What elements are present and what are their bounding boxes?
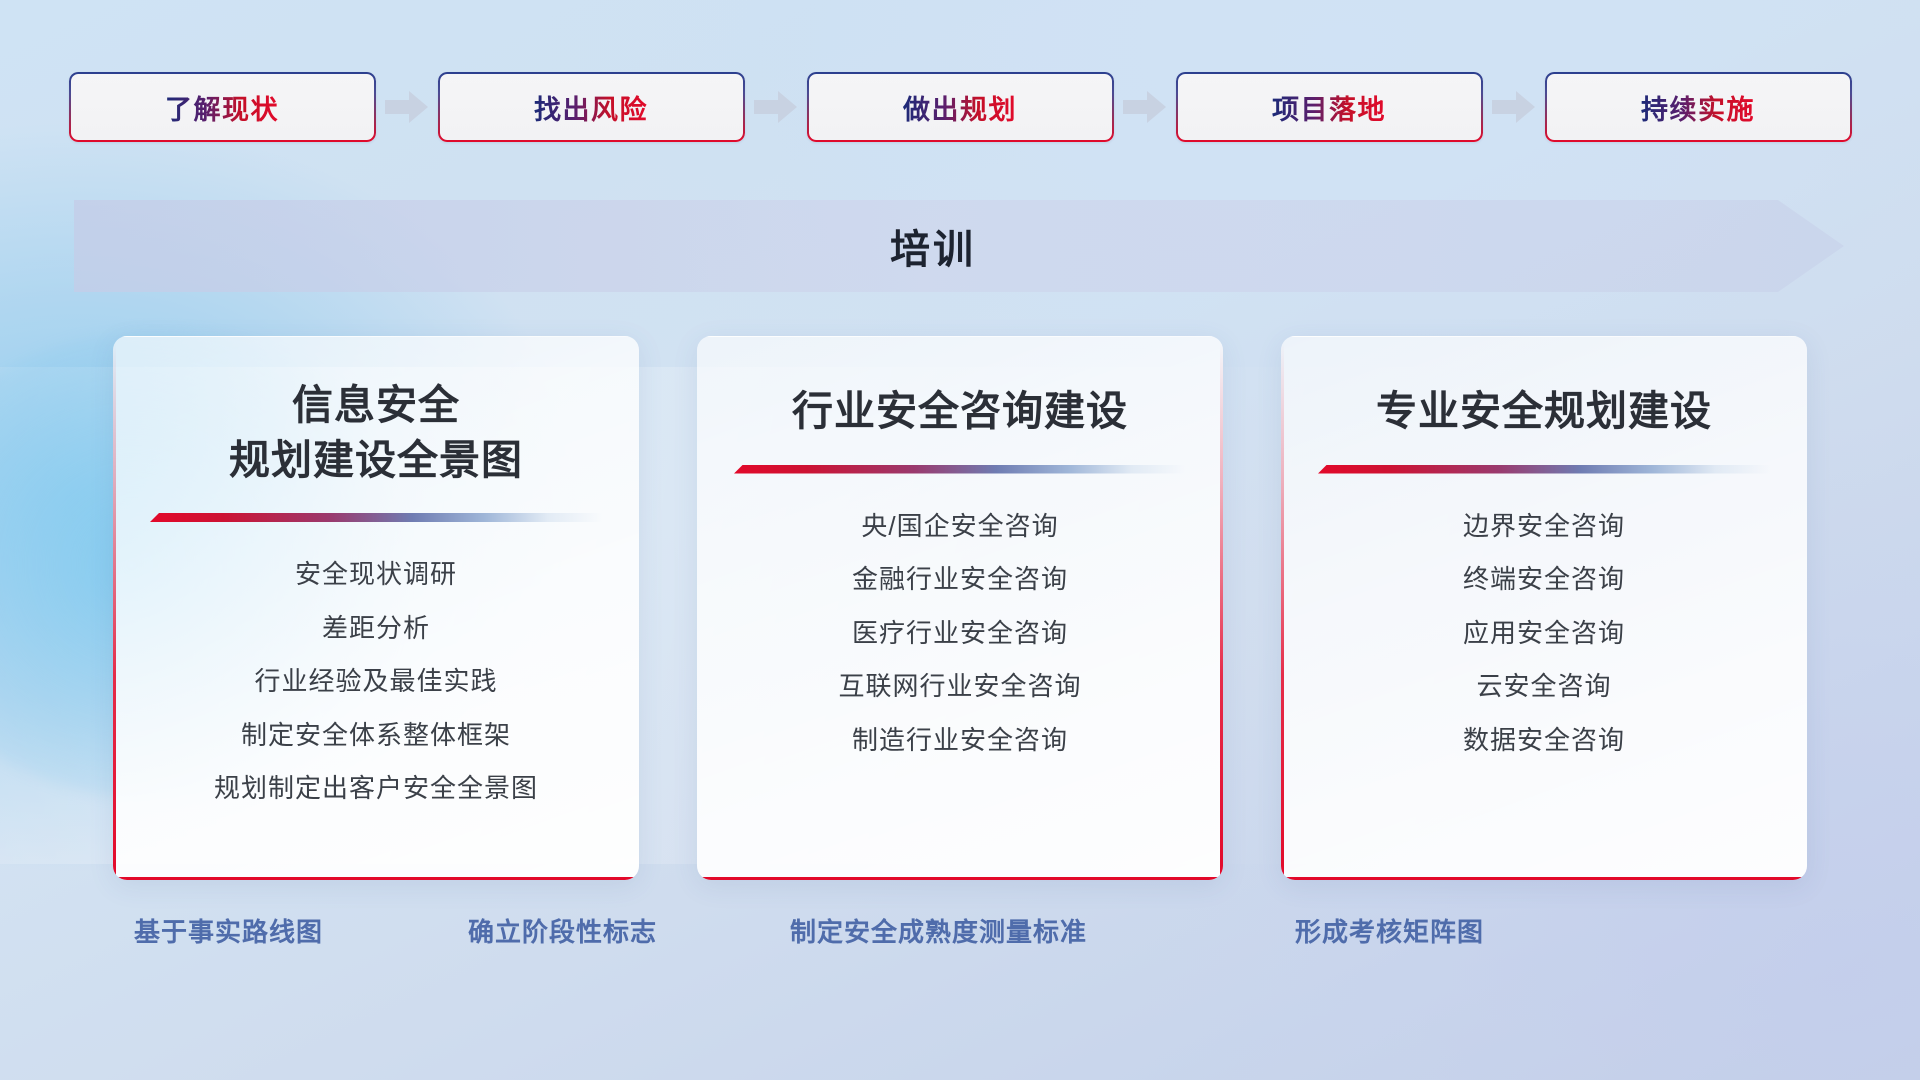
card-top-hairline (1281, 336, 1807, 337)
process-step-2[interactable]: 找出风险 (438, 72, 745, 142)
card-industry-security-consulting[interactable]: 行业安全咨询建设 央/国企安全咨询 金融行业安全咨询 医疗行业安全咨询 互联网行… (697, 336, 1223, 880)
card-item-list: 边界安全咨询 终端安全咨询 应用安全咨询 云安全咨询 数据安全咨询 (1281, 506, 1807, 762)
list-item: 央/国企安全咨询 (861, 506, 1058, 548)
list-item: 边界安全咨询 (1463, 506, 1625, 548)
card-top-hairline (697, 336, 1223, 337)
card-divider-icon (734, 465, 1186, 474)
list-item: 规划制定出客户安全全景图 (214, 768, 538, 810)
card-top-hairline (113, 336, 639, 337)
list-item: 制造行业安全咨询 (852, 720, 1068, 762)
right-arrow-icon (745, 72, 807, 142)
process-step-label: 持续实施 (1641, 88, 1755, 127)
card-accent-bottom (1281, 877, 1807, 880)
process-step-label: 项目落地 (1272, 88, 1386, 127)
list-item: 数据安全咨询 (1463, 720, 1625, 762)
card-group: 信息安全 规划建设全景图 安全现状调研 差距分析 行业经验及最佳实践 制定安全体… (0, 336, 1920, 880)
card-accent-bottom (113, 877, 639, 880)
list-item: 安全现状调研 (295, 554, 457, 596)
list-item: 云安全咨询 (1476, 666, 1611, 708)
card-information-security-panorama[interactable]: 信息安全 规划建设全景图 安全现状调研 差距分析 行业经验及最佳实践 制定安全体… (113, 336, 639, 880)
card-item-list: 安全现状调研 差距分析 行业经验及最佳实践 制定安全体系整体框架 规划制定出客户… (113, 554, 639, 810)
right-arrow-icon (376, 72, 438, 142)
card-title: 行业安全咨询建设 (766, 384, 1154, 439)
process-step-4[interactable]: 项目落地 (1176, 72, 1483, 142)
right-arrow-icon (1483, 72, 1545, 142)
process-step-1[interactable]: 了解现状 (69, 72, 376, 142)
list-item: 制定安全体系整体框架 (241, 715, 511, 757)
card-item-list: 央/国企安全咨询 金融行业安全咨询 医疗行业安全咨询 互联网行业安全咨询 制造行… (697, 506, 1223, 762)
list-item: 应用安全咨询 (1463, 613, 1625, 655)
footer-label-matrix: 形成考核矩阵图 (1295, 912, 1484, 949)
footer-label-row: 基于事实路线图 确立阶段性标志 制定安全成熟度测量标准 形成考核矩阵图 (0, 912, 1920, 964)
banner-title: 培训 (74, 200, 1844, 292)
list-item: 终端安全咨询 (1463, 559, 1625, 601)
footer-label-maturity: 制定安全成熟度测量标准 (790, 912, 1087, 949)
list-item: 金融行业安全咨询 (852, 559, 1068, 601)
card-title: 信息安全 规划建设全景图 (203, 378, 549, 487)
process-step-label: 做出规划 (903, 88, 1017, 127)
process-step-3[interactable]: 做出规划 (807, 72, 1114, 142)
list-item: 互联网行业安全咨询 (838, 666, 1081, 708)
card-divider-icon (1318, 465, 1770, 474)
training-banner: 培训 (74, 200, 1844, 292)
right-arrow-icon (1114, 72, 1176, 142)
card-divider-icon (150, 513, 602, 522)
process-flow: 了解现状 找出风险 做出规划 项目落地 (0, 72, 1920, 142)
list-item: 行业经验及最佳实践 (254, 661, 497, 703)
card-accent-bottom (697, 877, 1223, 880)
process-step-label: 了解现状 (165, 88, 279, 127)
process-step-5[interactable]: 持续实施 (1545, 72, 1852, 142)
footer-label-roadmap: 基于事实路线图 (134, 912, 323, 949)
card-professional-security-planning[interactable]: 专业安全规划建设 边界安全咨询 终端安全咨询 应用安全咨询 云安全咨询 数据安全… (1281, 336, 1807, 880)
slide-canvas: 了解现状 找出风险 做出规划 项目落地 (0, 0, 1920, 1080)
card-title: 专业安全规划建设 (1350, 384, 1738, 439)
list-item: 医疗行业安全咨询 (852, 613, 1068, 655)
list-item: 差距分析 (322, 608, 430, 650)
process-step-label: 找出风险 (534, 88, 648, 127)
footer-label-milestone: 确立阶段性标志 (468, 912, 657, 949)
